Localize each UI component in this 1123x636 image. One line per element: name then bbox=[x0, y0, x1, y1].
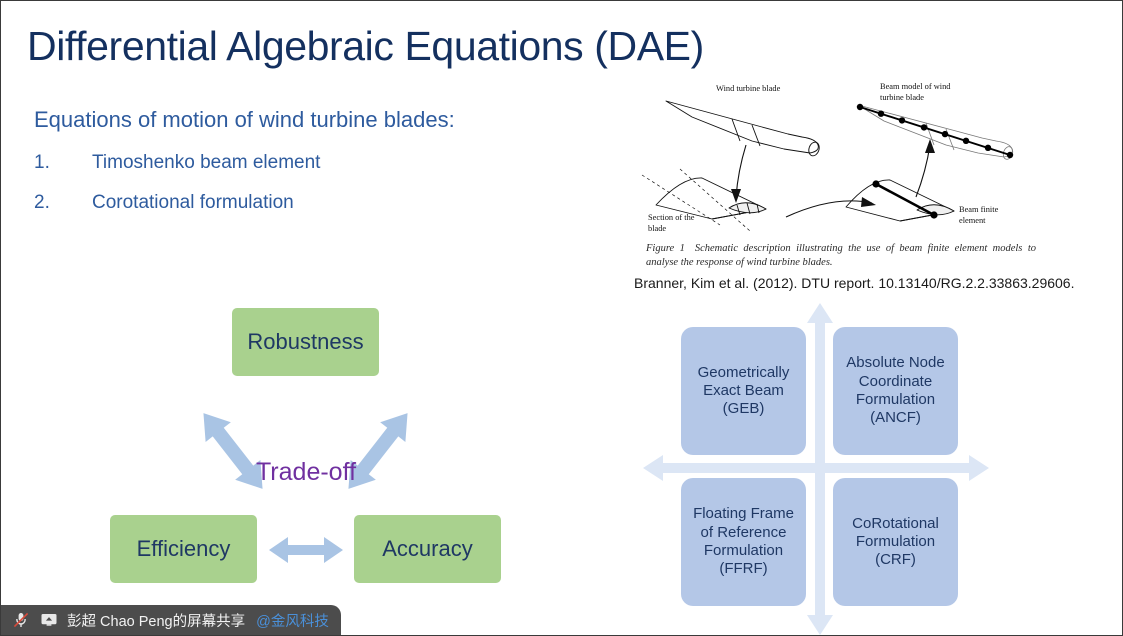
figure-label-beam-finite-line1: Beam finite bbox=[959, 205, 999, 214]
list-item-number: 2. bbox=[34, 192, 64, 214]
figure-citation: Branner, Kim et al. (2012). DTU report. … bbox=[634, 275, 1074, 291]
slide-title: Differential Algebraic Equations (DAE) bbox=[27, 23, 704, 70]
figure-label-beam-finite-line2: element bbox=[959, 216, 986, 225]
list-item-label: Timoshenko beam element bbox=[92, 152, 320, 174]
quadrant-box-ffrf: Floating Frame of Reference Formulation … bbox=[681, 478, 806, 606]
numbered-list-item: 2. Corotational formulation bbox=[34, 192, 454, 218]
screen-share-status-bar: 彭超 Chao Peng的屏幕共享 @金风科技 bbox=[1, 605, 341, 635]
figure-label-beam-model-line1: Beam model of wind bbox=[880, 82, 951, 91]
figure-caption-text: Schematic description illustrating the u… bbox=[646, 243, 1036, 268]
quadrant-box-crf: CoRotational Formulation (CRF) bbox=[833, 478, 958, 606]
presentation-slide: Differential Algebraic Equations (DAE) E… bbox=[0, 0, 1123, 636]
tradeoff-box-accuracy: Accuracy bbox=[354, 515, 501, 583]
numbered-list-item: 1. Timoshenko beam element bbox=[34, 152, 454, 178]
list-item-number: 1. bbox=[34, 152, 64, 174]
list-item-label: Corotational formulation bbox=[92, 192, 294, 214]
screen-share-handle-label: @金风科技 bbox=[256, 610, 329, 631]
lead-line: Equations of motion of wind turbine blad… bbox=[34, 107, 455, 133]
quadrant-box-geb: Geometrically Exact Beam (GEB) bbox=[681, 327, 806, 455]
screen-share-icon[interactable] bbox=[39, 610, 59, 630]
tradeoff-center-label: Trade-off bbox=[221, 458, 391, 487]
tradeoff-box-efficiency: Efficiency bbox=[110, 515, 257, 583]
screen-share-owner-label: 彭超 Chao Peng的屏幕共享 bbox=[67, 610, 245, 631]
figure-label-section-line1: Section of the bbox=[648, 213, 695, 222]
figure-caption: Figure 1Schematic description illustrati… bbox=[646, 242, 1036, 270]
tradeoff-box-robustness: Robustness bbox=[232, 308, 379, 376]
figure-label-wind-turbine-blade: Wind turbine blade bbox=[716, 84, 781, 93]
microphone-muted-icon[interactable] bbox=[11, 610, 31, 630]
quadrant-box-ancf: Absolute Node Coordinate Formulation (AN… bbox=[833, 327, 958, 455]
figure-label-section-line2: blade bbox=[648, 224, 666, 233]
figure-label-beam-model-line2: turbine blade bbox=[880, 93, 924, 102]
double-arrow-horizontal-icon bbox=[267, 534, 345, 566]
blade-schematic-figure: Wind turbine blade Beam model of wind tu… bbox=[634, 79, 1054, 297]
formulation-quadrant-diagram: Geometrically Exact Beam (GEB) Absolute … bbox=[641, 301, 1123, 636]
figure-caption-number: Figure 1 bbox=[646, 243, 685, 254]
tradeoff-triangle-diagram: Robustness Efficiency Accuracy Trade-off bbox=[101, 301, 521, 591]
blade-schematic-drawing: Wind turbine blade Beam model of wind tu… bbox=[634, 79, 1054, 239]
